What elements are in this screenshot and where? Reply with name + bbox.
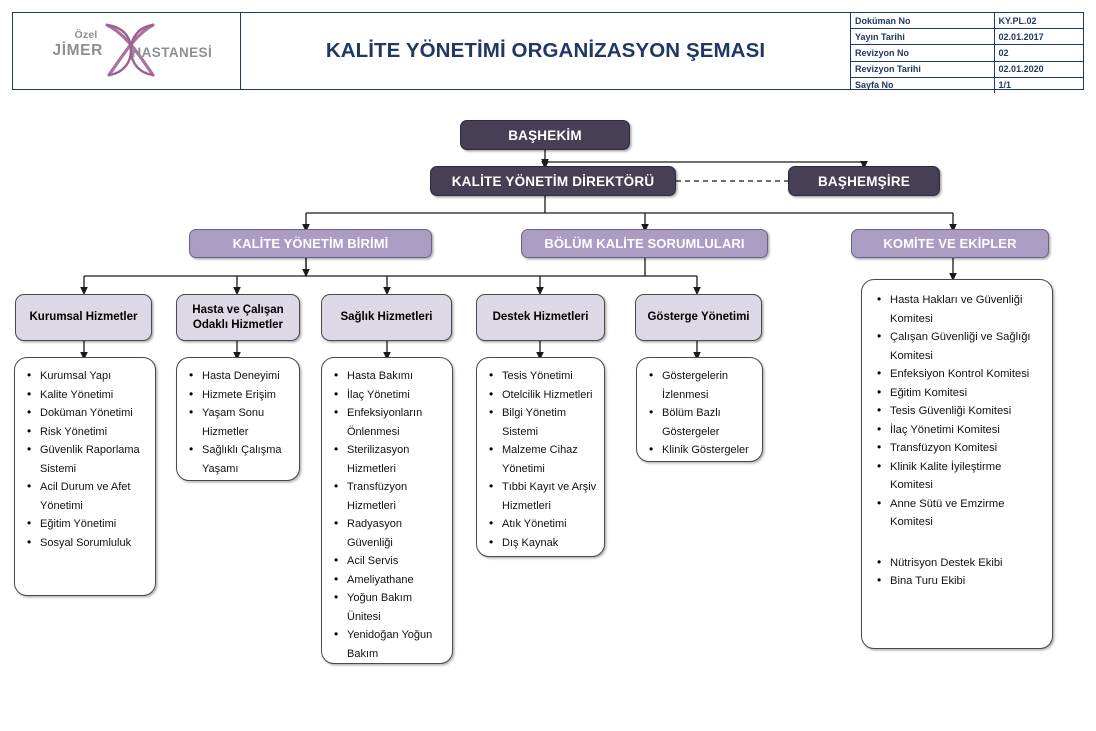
list-item: Otelcilik Hizmetleri: [502, 386, 597, 405]
list-item: Sosyal Sorumluluk: [40, 534, 148, 553]
list-item: Güvenlik Raporlama Sistemi: [40, 441, 148, 478]
list-item: İlaç Yönetimi Komitesi: [890, 421, 1045, 440]
list-item: Klinik Kalite İyileştirme Komitesi: [890, 458, 1045, 495]
list-hasta-calisan-odakli-hizmetler: Hasta DeneyimiHizmete ErişimYaşam Sonu H…: [176, 357, 300, 481]
list-item: Tıbbi Kayıt ve Arşiv Hizmetleri: [502, 478, 597, 515]
list-items: Tesis YönetimiOtelcilik HizmetleriBilgi …: [477, 358, 604, 557]
list-item: Ameliyathane: [347, 571, 445, 590]
list-item: İlaç Yönetimi: [347, 386, 445, 405]
list-items: Kurumsal YapıKalite YönetimiDoküman Yöne…: [15, 358, 155, 558]
list-item: Dış Kaynak Kullanımı: [502, 534, 597, 558]
node-kurumsal-hizmetler[interactable]: Kurumsal Hizmetler: [15, 294, 152, 341]
list-item: Transfüzyon Komitesi: [890, 439, 1045, 458]
list-kurumsal-hizmetler: Kurumsal YapıKalite YönetimiDoküman Yöne…: [14, 357, 156, 596]
node-hasta-calisan-odakli-hizmetler[interactable]: Hasta ve Çalışan Odaklı Hizmetler: [176, 294, 300, 341]
list-destek-hizmetleri: Tesis YönetimiOtelcilik HizmetleriBilgi …: [476, 357, 605, 557]
list-items: Hasta Hakları ve Güvenliği KomitesiÇalış…: [862, 280, 1052, 597]
list-item: Bölüm Bazlı Göstergeler: [662, 404, 755, 441]
list-item: Atık Yönetimi: [502, 515, 597, 534]
list-item: Risk Yönetimi: [40, 423, 148, 442]
node-destek-hizmetleri[interactable]: Destek Hizmetleri: [476, 294, 605, 341]
list-item: Hizmete Erişim: [202, 386, 292, 405]
list-item: Eğitim Komitesi: [890, 384, 1045, 403]
node-kalite-yonetim-direktoru[interactable]: KALİTE YÖNETİM DİREKTÖRÜ: [430, 166, 676, 196]
list-item: Hasta Bakımı: [347, 367, 445, 386]
list-item: Transfüzyon Hizmetleri: [347, 478, 445, 515]
list-item: Eğitim Yönetimi: [40, 515, 148, 534]
node-bashekim[interactable]: BAŞHEKİM: [460, 120, 630, 150]
list-item: Doküman Yönetimi: [40, 404, 148, 423]
list-item: Anne Sütü ve Emzirme Komitesi: [890, 495, 1045, 532]
node-saglik-hizmetleri[interactable]: Sağlık Hizmetleri: [321, 294, 452, 341]
list-saglik-hizmetleri: Hasta Bakımıİlaç YönetimiEnfeksiyonların…: [321, 357, 453, 664]
org-chart: BAŞHEKİM KALİTE YÖNETİM DİREKTÖRÜ BAŞHEM…: [0, 0, 1096, 731]
list-item: Yoğun Bakım Ünitesi: [347, 589, 445, 626]
list-item: Yenidoğan Yoğun Bakım: [347, 626, 445, 663]
list-item: Kalite Yönetimi: [40, 386, 148, 405]
list-item: Bilgi Yönetim Sistemi: [502, 404, 597, 441]
node-label: Hasta ve Çalışan Odaklı Hizmetler: [192, 303, 283, 333]
list-item: Bina Turu Ekibi: [890, 572, 1045, 591]
list-item: Acil Durum ve Afet Yönetimi: [40, 478, 148, 515]
list-item: Klinik Göstergeler: [662, 441, 755, 460]
node-gosterge-yonetimi[interactable]: Gösterge Yönetimi: [635, 294, 762, 341]
list-items: Göstergelerin İzlenmesiBölüm Bazlı Göste…: [637, 358, 762, 462]
list-komite-ve-ekipler: Hasta Hakları ve Güvenliği KomitesiÇalış…: [861, 279, 1053, 649]
node-kalite-yonetim-birimi[interactable]: KALİTE YÖNETİM BİRİMİ: [189, 229, 432, 258]
list-item: Sterilizasyon Hizmetleri: [347, 441, 445, 478]
node-bolum-kalite-sorumlulari[interactable]: BÖLÜM KALİTE SORUMLULARI: [521, 229, 768, 258]
list-items: Hasta Bakımıİlaç YönetimiEnfeksiyonların…: [322, 358, 452, 664]
list-item: Sağlıklı Çalışma Yaşamı: [202, 441, 292, 478]
list-item: Tesis Güvenliği Komitesi: [890, 402, 1045, 421]
list-item: Malzeme Cihaz Yönetimi: [502, 441, 597, 478]
list-item: Nütrisyon Destek Ekibi: [890, 554, 1045, 573]
list-items: Hasta DeneyimiHizmete ErişimYaşam Sonu H…: [177, 358, 299, 481]
list-item: Radyasyon Güvenliği: [347, 515, 445, 552]
node-komite-ve-ekipler[interactable]: KOMİTE VE EKİPLER: [851, 229, 1049, 258]
list-item: Enfeksiyonların Önlenmesi: [347, 404, 445, 441]
list-item: Göstergelerin İzlenmesi: [662, 367, 755, 404]
list-item: [890, 532, 1045, 554]
list-item: Enfeksiyon Kontrol Komitesi: [890, 365, 1045, 384]
node-bashemsire[interactable]: BAŞHEMŞİRE: [788, 166, 940, 196]
list-item: Tesis Yönetimi: [502, 367, 597, 386]
list-item: Yaşam Sonu Hizmetler: [202, 404, 292, 441]
list-gosterge-yonetimi: Göstergelerin İzlenmesiBölüm Bazlı Göste…: [636, 357, 763, 462]
list-item: Hasta Hakları ve Güvenliği Komitesi: [890, 291, 1045, 328]
list-item: Kurumsal Yapı: [40, 367, 148, 386]
list-item: Doğum Hizmetleri: [347, 663, 445, 664]
list-item: Acil Servis: [347, 552, 445, 571]
list-item: Çalışan Güvenliği ve Sağlığı Komitesi: [890, 328, 1045, 365]
list-item: Hasta Deneyimi: [202, 367, 292, 386]
